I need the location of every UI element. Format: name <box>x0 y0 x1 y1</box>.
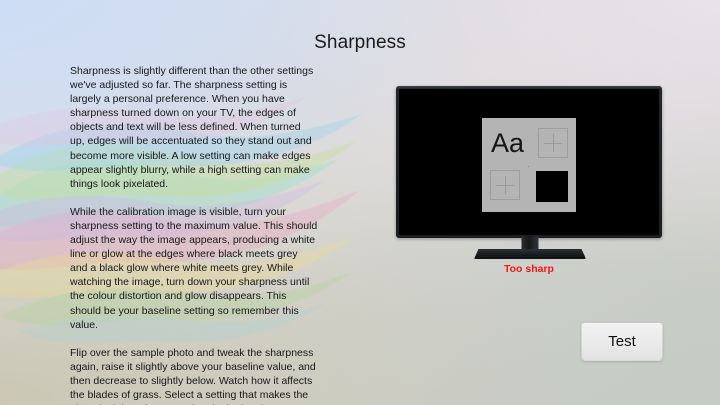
calibration-center-dot <box>528 166 529 167</box>
tv-stand-neck <box>522 236 539 251</box>
calibration-black-square <box>536 171 568 202</box>
registration-crosshair-icon <box>490 170 520 200</box>
tv-stand-base <box>474 249 586 259</box>
instruction-paragraph: While the calibration image is visible, … <box>70 205 318 332</box>
calibration-card: Aa <box>482 118 576 212</box>
instruction-paragraph: Sharpness is slightly different than the… <box>70 64 318 191</box>
tv-screen: Aa <box>399 89 659 235</box>
instruction-paragraph: Flip over the sample photo and tweak the… <box>70 346 318 405</box>
test-button[interactable]: Test <box>581 322 663 361</box>
page-title: Sharpness <box>0 32 720 54</box>
tv-preview-illustration: Aa <box>396 86 664 266</box>
calibration-aa-text: Aa <box>491 130 524 157</box>
tv-bezel: Aa <box>396 86 662 238</box>
preview-caption: Too sharp <box>396 263 662 275</box>
instructions-column: Sharpness is slightly different than the… <box>70 64 318 405</box>
registration-crosshair-icon <box>538 128 568 158</box>
sharpness-calibration-screen: Sharpness Sharpness is slightly differen… <box>0 0 720 405</box>
